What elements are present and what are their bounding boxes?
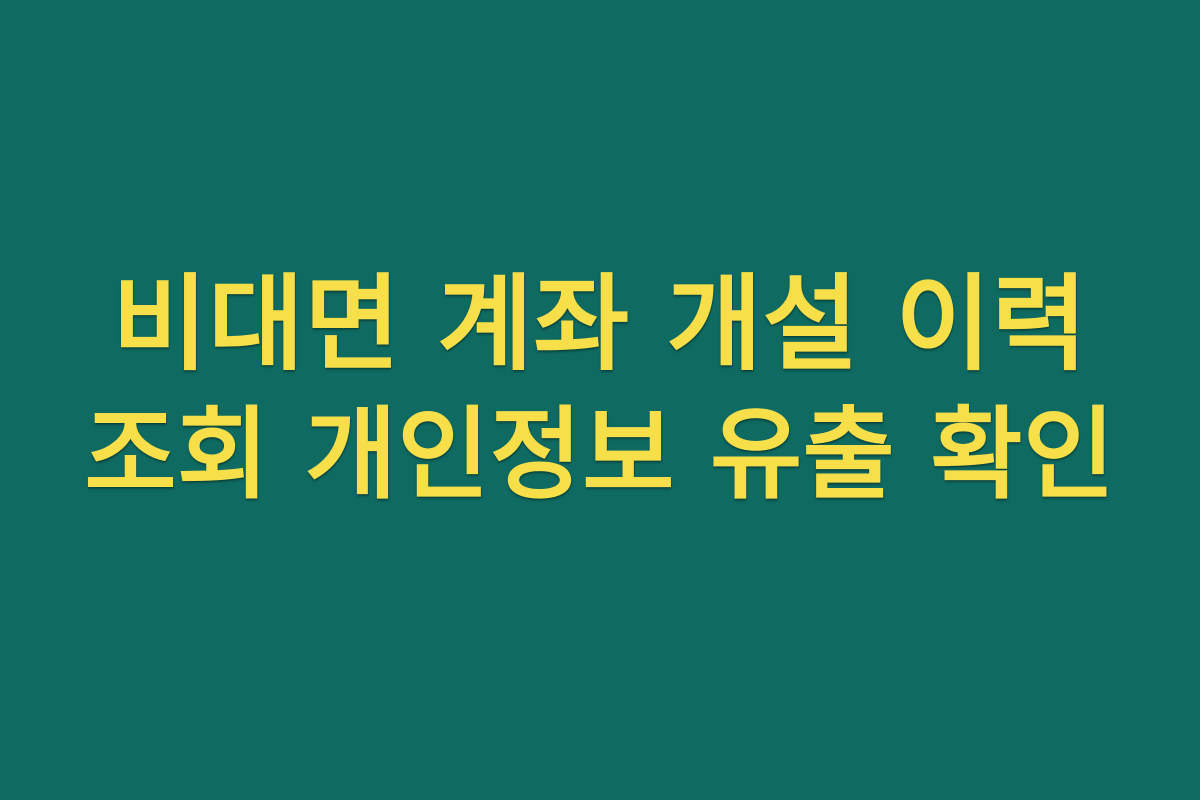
- headline-line-1: 비대면 계좌 개설 이력: [24, 258, 1176, 390]
- headline-block: 비대면 계좌 개설 이력 조회 개인정보 유출 확인: [0, 258, 1200, 517]
- text-banner: 비대면 계좌 개설 이력 조회 개인정보 유출 확인: [0, 0, 1200, 800]
- headline-line-2: 조회 개인정보 유출 확인: [24, 391, 1176, 518]
